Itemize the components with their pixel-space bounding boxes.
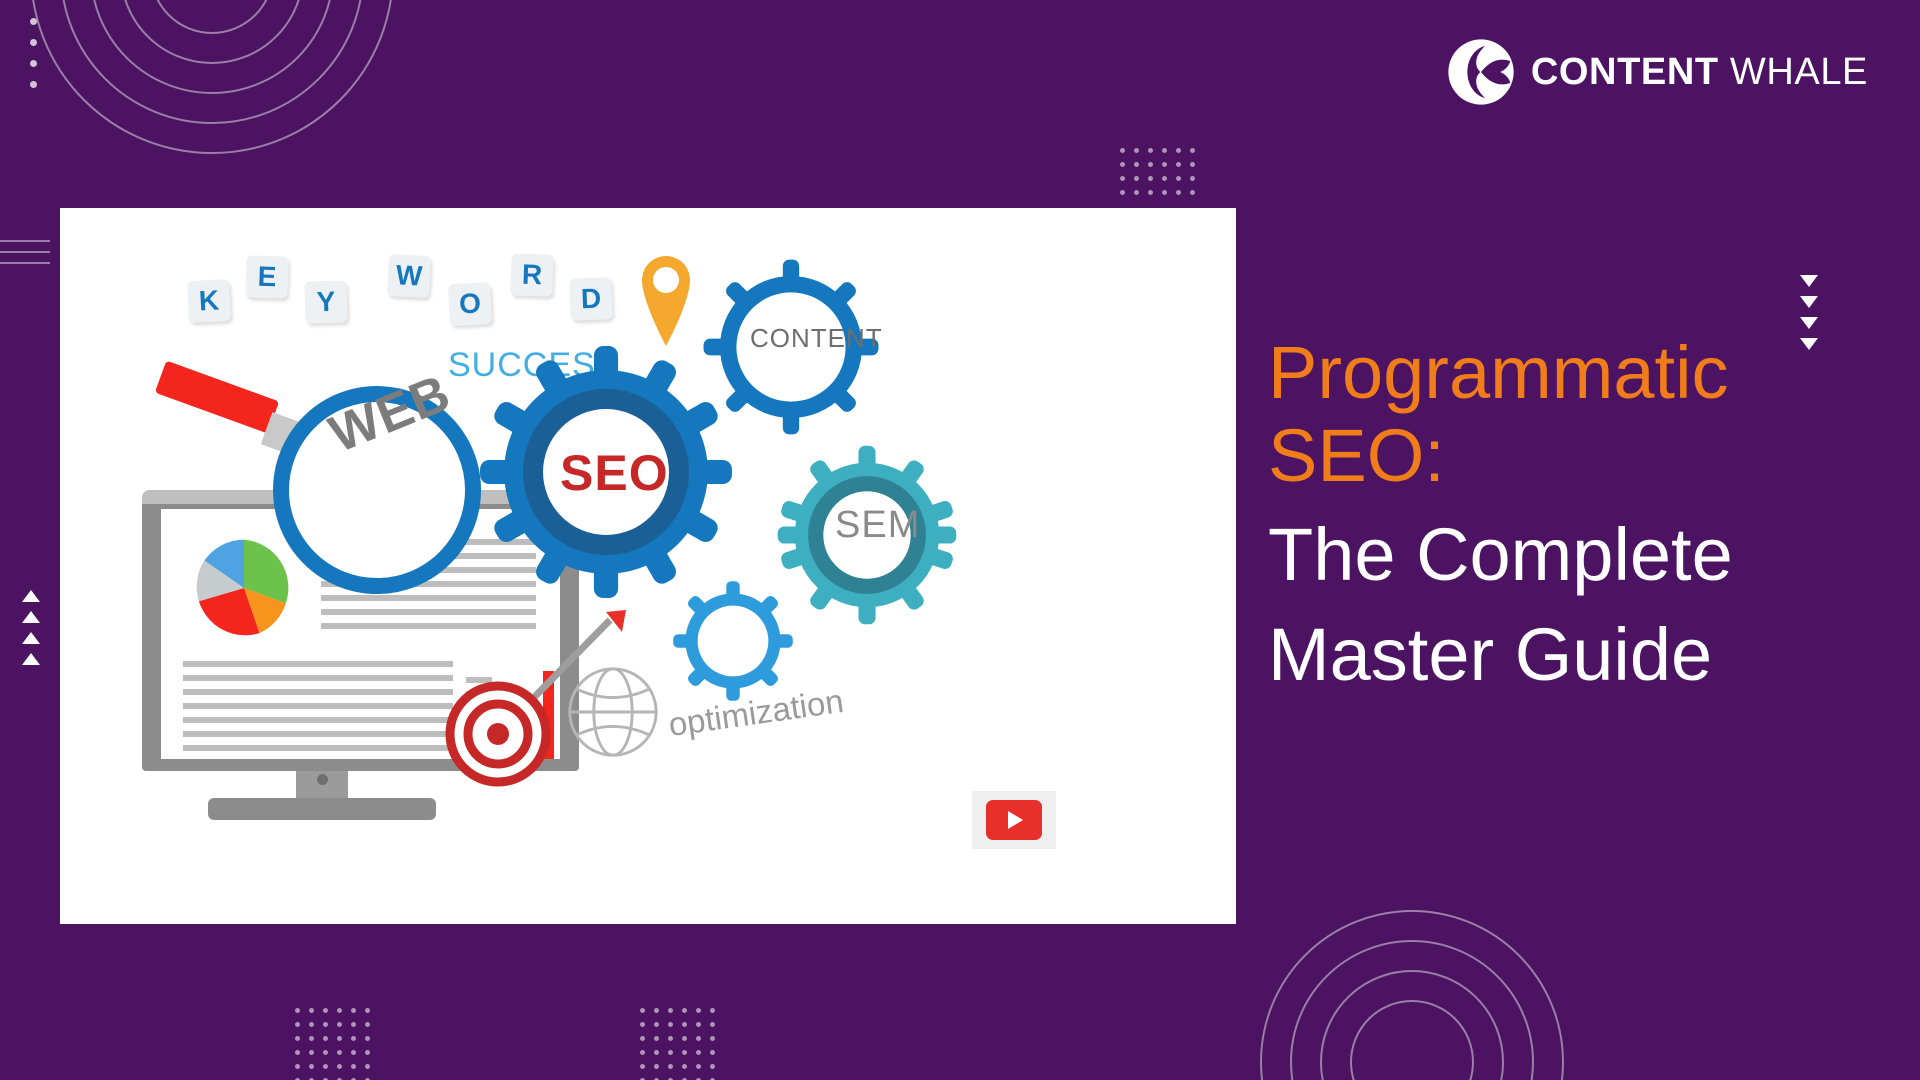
decor-lines-left <box>0 240 50 264</box>
banner: CONTENT WHALE Programmatic SEO: The Comp… <box>0 0 1920 1080</box>
headline-block: Programmatic SEO: The Complete Master Gu… <box>1268 332 1888 697</box>
illustration-card: K E Y W O R D <box>60 208 1236 924</box>
headline-line-3: The Complete <box>1268 512 1888 598</box>
globe-icon <box>565 664 661 760</box>
label-seo: SEO <box>560 444 669 502</box>
logo-word-content: CONTENT <box>1531 51 1719 93</box>
logo-wordmark: CONTENT WHALE <box>1531 51 1868 94</box>
label-sem: SEM <box>835 504 920 547</box>
headline-line-4: Master Guide <box>1268 612 1888 698</box>
monitor-indicator <box>317 774 328 785</box>
decor-triangles-left <box>22 590 40 665</box>
keyword-tile-o: O <box>448 282 492 326</box>
keyword-tile-k: K <box>187 279 231 323</box>
seo-illustration: K E Y W O R D <box>60 208 1236 924</box>
decor-dotgrid-bottom-b <box>640 1008 715 1080</box>
decor-dotgrid-bottom-a <box>295 1008 370 1080</box>
map-pin-icon <box>638 250 694 346</box>
keyword-tile-d: D <box>569 277 612 320</box>
brand-logo[interactable]: CONTENT WHALE <box>1447 38 1868 106</box>
keyword-tile-y: Y <box>304 280 347 323</box>
keyword-tile-r: R <box>510 253 553 296</box>
decor-dotgrid-top <box>1120 148 1195 195</box>
monitor-base <box>208 798 436 820</box>
whale-tail-circle-icon <box>1447 38 1515 106</box>
logo-word-whale: WHALE <box>1730 51 1868 93</box>
keyword-tile-w: W <box>387 254 431 298</box>
keyword-tile-e: E <box>245 255 288 298</box>
youtube-play-icon[interactable] <box>972 791 1056 849</box>
headline-line-1: Programmatic <box>1268 332 1888 415</box>
small-gear <box>672 580 794 702</box>
label-content: CONTENT <box>750 323 883 354</box>
headline-line-2: SEO: <box>1268 415 1888 498</box>
decor-dots-vertical <box>30 18 37 88</box>
